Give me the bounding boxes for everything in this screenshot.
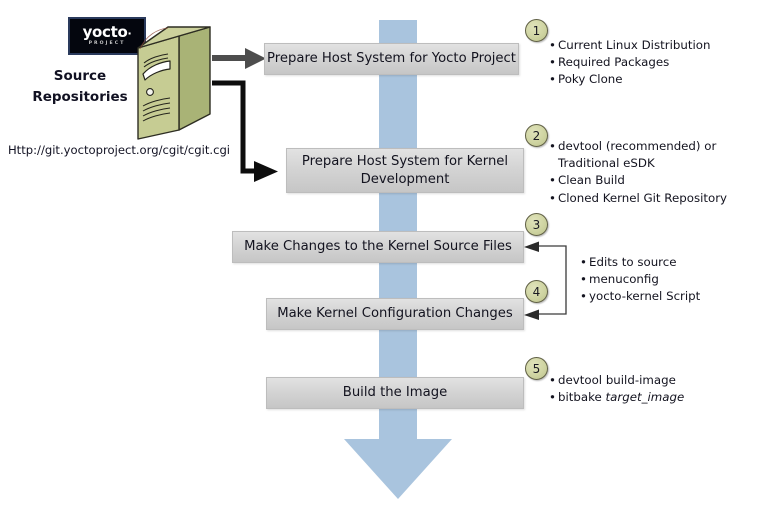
step-5-note-2-text: bitbake: [558, 390, 606, 404]
bullet-icon: •: [549, 54, 558, 71]
source-repositories-url: Http://git.yoctoproject.org/cgit/cgit.cg…: [6, 143, 232, 157]
step-1-note-2: Required Packages: [558, 54, 764, 71]
step-2-box-label: Prepare Host System for Kernel Developme…: [302, 153, 508, 189]
step-5-note-2: bitbake target_image: [558, 389, 764, 406]
step-4-box-label: Make Kernel Configuration Changes: [277, 305, 513, 323]
list-item: • menuconfig: [580, 271, 765, 288]
bullet-icon: •: [549, 37, 558, 54]
bullet-icon: •: [549, 389, 558, 406]
bullet-icon: •: [580, 271, 589, 288]
step-4-box[interactable]: Make Kernel Configuration Changes: [266, 298, 524, 330]
shared-note-3: yocto-kernel Script: [589, 288, 765, 305]
list-item: • bitbake target_image: [549, 389, 764, 406]
list-item: • Current Linux Distribution: [549, 37, 764, 54]
logo-dot: ·: [128, 27, 132, 40]
step-5-note-1-text: devtool build-image: [558, 373, 676, 387]
list-item: • Cloned Kernel Git Repository: [549, 190, 764, 207]
step-3-number: 3: [533, 218, 541, 232]
step-1-note-1: Current Linux Distribution: [558, 37, 764, 54]
arrow-server-to-step1: [212, 48, 266, 69]
step-2-box[interactable]: Prepare Host System for Kernel Developme…: [286, 148, 524, 193]
list-item: • devtool build-image: [549, 372, 764, 389]
shared-note-2: menuconfig: [589, 271, 765, 288]
list-item: • yocto-kernel Script: [580, 288, 765, 305]
step-4-number-badge: 4: [525, 280, 548, 303]
step-2-number: 2: [533, 129, 541, 143]
server-tower-icon: [132, 22, 216, 142]
bullet-icon: •: [549, 372, 558, 389]
bullet-icon: •: [549, 138, 558, 155]
source-repositories-label: Source Repositories: [20, 66, 140, 108]
list-item: • Clean Build: [549, 172, 764, 189]
step-2-box-line1: Prepare Host System for Kernel: [302, 154, 508, 169]
list-item: • Poky Clone: [549, 71, 764, 88]
list-item: • Required Packages: [549, 54, 764, 71]
step-2-box-line2: Development: [361, 172, 450, 187]
step-5-notes: • devtool build-image • bitbake target_i…: [549, 372, 764, 406]
bullet-icon: •: [549, 172, 558, 189]
step-2-note-3: Cloned Kernel Git Repository: [558, 190, 764, 207]
step-5-note-2-emphasis: target_image: [606, 390, 685, 404]
bullet-icon: •: [580, 288, 589, 305]
step-5-number: 5: [533, 362, 541, 376]
step-1-note-3: Poky Clone: [558, 71, 764, 88]
bullet-icon: •: [580, 254, 589, 271]
steps-3-4-shared-notes: • Edits to source • menuconfig • yocto-k…: [580, 254, 765, 306]
step-3-box[interactable]: Make Changes to the Kernel Source Files: [232, 231, 524, 263]
step-2-number-badge: 2: [525, 124, 548, 147]
step-2-notes: • devtool (recommended) or Traditional e…: [549, 138, 764, 207]
step-5-number-badge: 5: [525, 357, 548, 380]
logo-subtext: PROJECT: [89, 42, 126, 47]
shared-note-1: Edits to source: [589, 254, 765, 271]
step-2-note-1: devtool (recommended) or Traditional eSD…: [558, 138, 764, 172]
step-3-box-label: Make Changes to the Kernel Source Files: [244, 238, 512, 256]
list-item: • Edits to source: [580, 254, 765, 271]
step-1-number-badge: 1: [525, 19, 548, 42]
diagram-canvas: yocto· PROJECT Source Repositories Http:…: [0, 0, 769, 517]
arrow-server-to-step2: [212, 83, 278, 182]
step-1-box[interactable]: Prepare Host System for Yocto Project: [264, 43, 519, 75]
step-1-box-label: Prepare Host System for Yocto Project: [267, 50, 516, 68]
source-label-line1: Source: [20, 66, 140, 87]
step-5-box-label: Build the Image: [343, 384, 447, 402]
step-5-note-1: devtool build-image: [558, 372, 764, 389]
step-3-number-badge: 3: [525, 213, 548, 236]
step-4-number: 4: [533, 285, 541, 299]
logo-wordmark: yocto: [83, 23, 128, 41]
bullet-icon: •: [549, 190, 558, 207]
bullet-icon: •: [549, 71, 558, 88]
source-label-line2: Repositories: [20, 87, 140, 108]
list-item: • devtool (recommended) or Traditional e…: [549, 138, 764, 172]
step-2-note-2: Clean Build: [558, 172, 764, 189]
step-5-box[interactable]: Build the Image: [266, 377, 524, 409]
step-1-number: 1: [533, 24, 541, 38]
step-1-notes: • Current Linux Distribution • Required …: [549, 37, 764, 89]
